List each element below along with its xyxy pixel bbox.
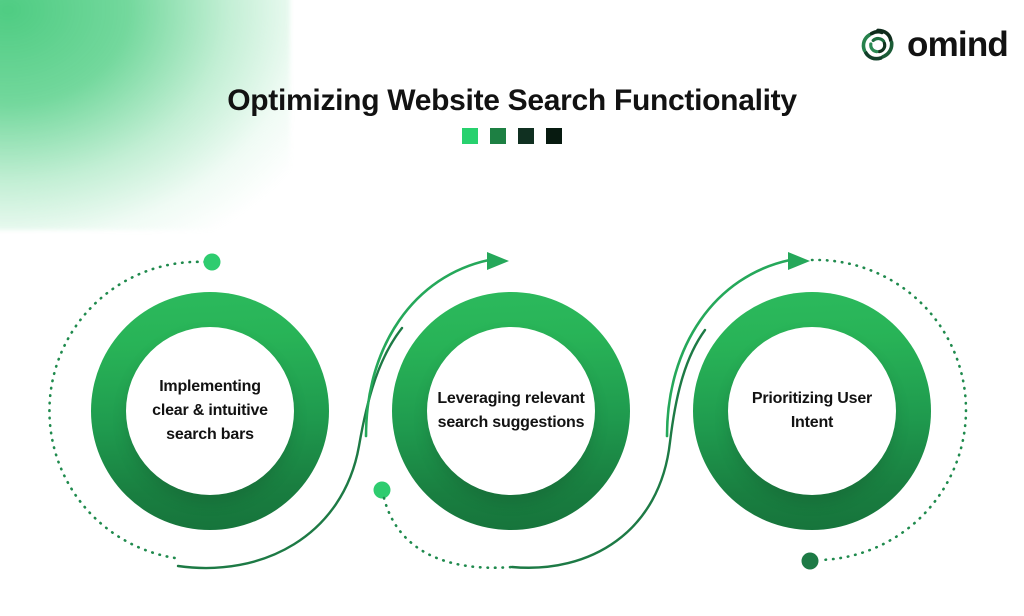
node-prioritizing-user-intent[interactable]: Prioritizing User Intent	[693, 292, 931, 530]
node-implementing-search-bars[interactable]: Implementing clear & intuitive search ba…	[91, 292, 329, 530]
node-label: Prioritizing User Intent	[744, 387, 880, 436]
swatch-near-black-green	[546, 128, 562, 144]
swatch-row	[0, 128, 1024, 144]
swatch-dark-green	[518, 128, 534, 144]
omind-spiral-icon	[858, 24, 898, 64]
brand-logo: omind	[858, 24, 1008, 64]
brand-wordmark: omind	[907, 27, 1008, 62]
arrowhead-2	[487, 252, 509, 270]
swatch-green	[490, 128, 506, 144]
arrowhead-3	[788, 252, 810, 270]
node-label: Implementing clear & intuitive search ba…	[144, 375, 276, 448]
node-inner-circle: Prioritizing User Intent	[728, 327, 896, 495]
node-inner-circle: Leveraging relevant search suggestions	[427, 327, 595, 495]
page-header: Optimizing Website Search Functionality	[0, 84, 1024, 144]
bright-dot-bottom-left-2	[374, 482, 391, 499]
swatch-bright-green	[462, 128, 478, 144]
dark-dot-bottom-3	[802, 553, 819, 570]
process-diagram: Implementing clear & intuitive search ba…	[0, 236, 1024, 616]
node-search-suggestions[interactable]: Leveraging relevant search suggestions	[392, 292, 630, 530]
page-title: Optimizing Website Search Functionality	[0, 84, 1024, 119]
node-label: Leveraging relevant search suggestions	[429, 387, 592, 436]
node-inner-circle: Implementing clear & intuitive search ba…	[126, 327, 294, 495]
bright-dot-top-right-1	[204, 254, 221, 271]
